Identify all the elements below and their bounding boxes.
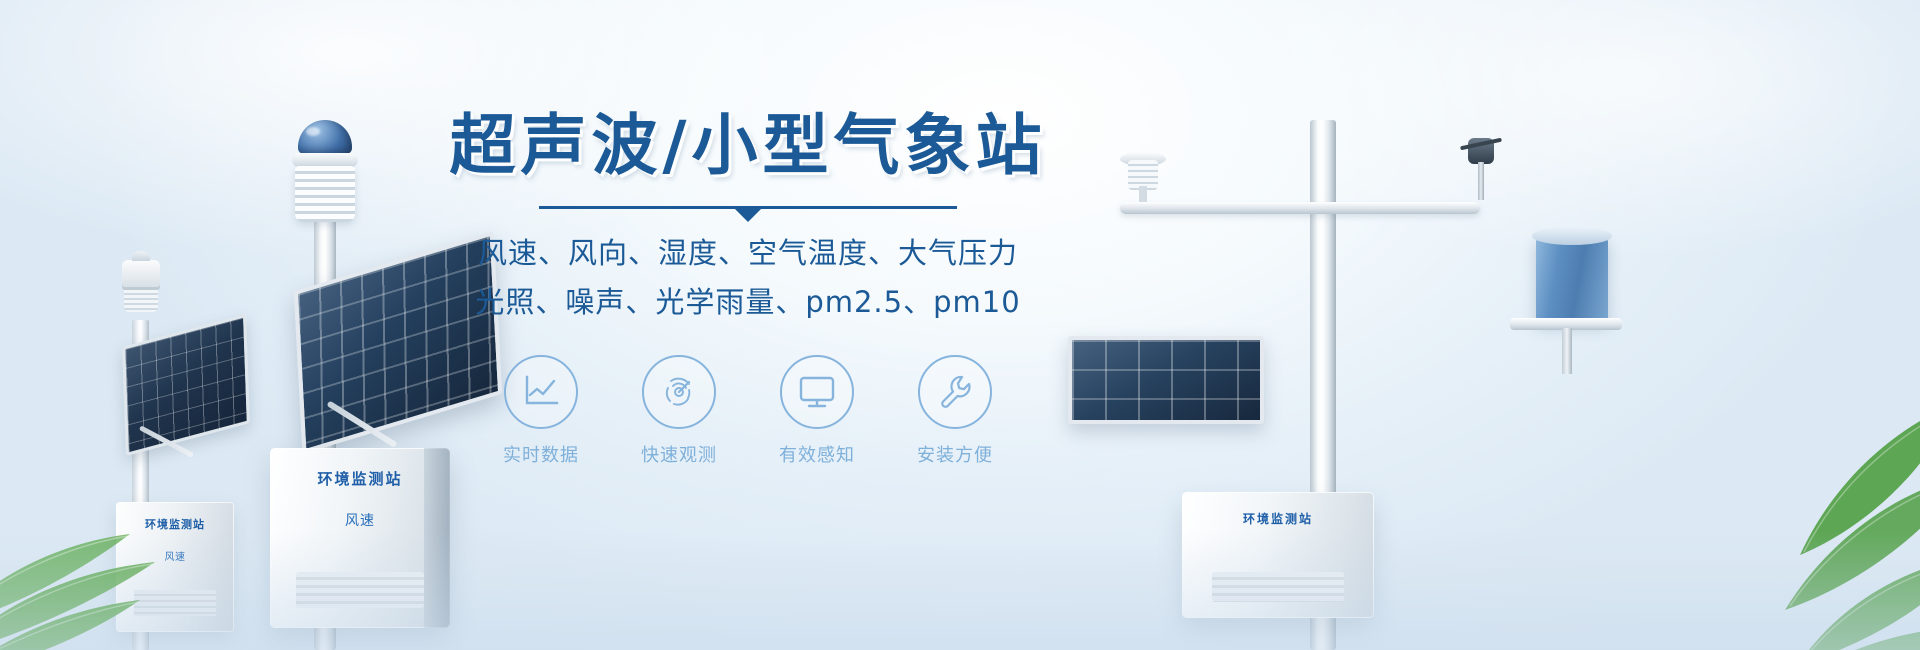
vent-grille bbox=[296, 572, 424, 608]
cross-arm bbox=[1120, 202, 1480, 214]
vent-grille bbox=[134, 590, 216, 616]
control-box-label: 环境监测站 bbox=[1182, 510, 1374, 527]
feature-icon-circle bbox=[504, 355, 578, 429]
feature-list: 实时数据 快 bbox=[448, 355, 1048, 467]
feature-item-easy-install[interactable]: 安装方便 bbox=[907, 355, 1003, 467]
control-box: 环境监测站 bbox=[1182, 492, 1374, 618]
brand-logo-label: 风速 bbox=[270, 510, 450, 530]
weather-station-left-tall: 环境监测站 风速 bbox=[262, 120, 477, 650]
feature-icon-circle bbox=[642, 355, 716, 429]
weather-station-left-small: 环境监测站 风速 bbox=[96, 250, 266, 650]
feature-label: 实时数据 bbox=[493, 441, 589, 467]
radiation-shield-icon bbox=[124, 290, 158, 312]
feature-label: 快速观测 bbox=[631, 441, 727, 467]
feature-item-realtime-data[interactable]: 实时数据 bbox=[493, 355, 589, 467]
line-chart-icon bbox=[521, 373, 561, 411]
solar-panel bbox=[1068, 336, 1264, 424]
banner-content: 超声波/小型气象站 风速、风向、湿度、空气温度、大气压力 光照、噪声、光学雨量、… bbox=[448, 108, 1048, 467]
feature-icon-circle bbox=[918, 355, 992, 429]
weather-station-right: 环境监测站 bbox=[1160, 90, 1490, 650]
title-divider bbox=[539, 206, 957, 209]
ultrasonic-sensor-icon bbox=[1120, 152, 1166, 200]
subtitle-line-2: 光照、噪声、光学雨量、pm2.5、pm10 bbox=[448, 280, 1048, 325]
control-box: 环境监测站 风速 bbox=[116, 502, 234, 632]
rain-gauge-icon bbox=[1536, 236, 1608, 322]
feature-item-effective-sensing[interactable]: 有效感知 bbox=[769, 355, 865, 467]
radiation-shield-icon bbox=[295, 166, 355, 222]
monitor-screen-icon bbox=[796, 374, 838, 410]
product-banner: 环境监测站 风速 环境监测站 风速 bbox=[0, 0, 1920, 650]
brand-logo-label: 风速 bbox=[116, 548, 234, 563]
sensor-cap bbox=[292, 153, 358, 167]
subtitle-line-1: 风速、风向、湿度、空气温度、大气压力 bbox=[448, 231, 1048, 276]
shelf-support bbox=[1562, 328, 1572, 374]
control-box-label: 环境监测站 bbox=[116, 516, 234, 532]
page-title: 超声波/小型气象站 bbox=[448, 108, 1048, 184]
control-box-label: 环境监测站 bbox=[270, 468, 450, 489]
feature-icon-circle bbox=[780, 355, 854, 429]
wrench-icon bbox=[935, 372, 975, 412]
vent-grille bbox=[1212, 572, 1344, 602]
sensor-head-icon bbox=[122, 260, 160, 290]
divider-triangle-icon bbox=[735, 209, 761, 222]
tropical-leaf-right bbox=[1630, 370, 1920, 650]
control-box: 环境监测站 风速 bbox=[270, 448, 450, 628]
feature-label: 有效感知 bbox=[769, 441, 865, 467]
feature-label: 安装方便 bbox=[907, 441, 1003, 467]
radar-sensor-icon bbox=[658, 372, 700, 412]
feature-item-fast-observation[interactable]: 快速观测 bbox=[631, 355, 727, 467]
dome-sensor-icon bbox=[298, 120, 352, 154]
anemometer-icon bbox=[1464, 138, 1498, 200]
